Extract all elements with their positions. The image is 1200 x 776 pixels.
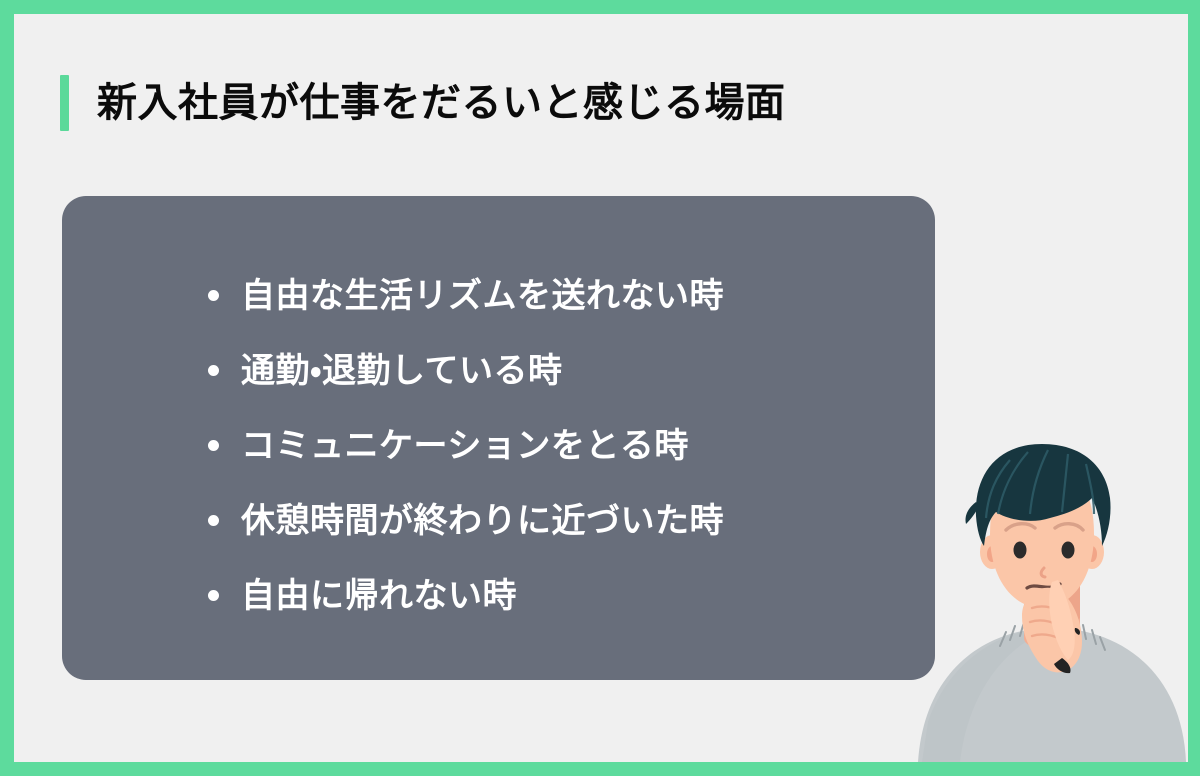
list-item: 休憩時間が終わりに近づいた時 xyxy=(208,483,724,558)
slide-frame: 新入社員が仕事をだるいと感じる場面 自由な生活リズムを送れない時 通勤・退勤して… xyxy=(0,0,1200,776)
bullet-dot-icon xyxy=(208,365,219,376)
list-item: 通勤・退勤している時 xyxy=(208,333,724,408)
title-accent-bar xyxy=(60,75,69,131)
list-item: 自由な生活リズムを送れない時 xyxy=(208,258,724,333)
list-item: コミュニケーションをとる時 xyxy=(208,408,724,483)
bullet-dot-icon xyxy=(208,290,219,301)
list-item-label: 自由な生活リズムを送れない時 xyxy=(241,279,724,313)
content-card: 自由な生活リズムを送れない時 通勤・退勤している時 コミュニケーションをとる時 … xyxy=(62,196,935,680)
title-text: 新入社員が仕事をだるいと感じる場面 xyxy=(97,83,786,123)
list-item-label: 通勤・退勤している時 xyxy=(241,354,563,388)
page-title: 新入社員が仕事をだるいと感じる場面 xyxy=(60,70,786,136)
bullet-list: 自由な生活リズムを送れない時 通勤・退勤している時 コミュニケーションをとる時 … xyxy=(208,258,724,633)
list-item-label: 自由に帰れない時 xyxy=(241,579,517,613)
bullet-dot-icon xyxy=(208,515,219,526)
bullet-dot-icon xyxy=(208,440,219,451)
list-item: 自由に帰れない時 xyxy=(208,558,724,633)
list-item-label: 休憩時間が終わりに近づいた時 xyxy=(241,504,724,538)
thinking-person-illustration xyxy=(916,432,1188,762)
slide-canvas: 新入社員が仕事をだるいと感じる場面 自由な生活リズムを送れない時 通勤・退勤して… xyxy=(14,14,1188,762)
list-item-label: コミュニケーションをとる時 xyxy=(241,429,689,463)
bullet-dot-icon xyxy=(208,590,219,601)
